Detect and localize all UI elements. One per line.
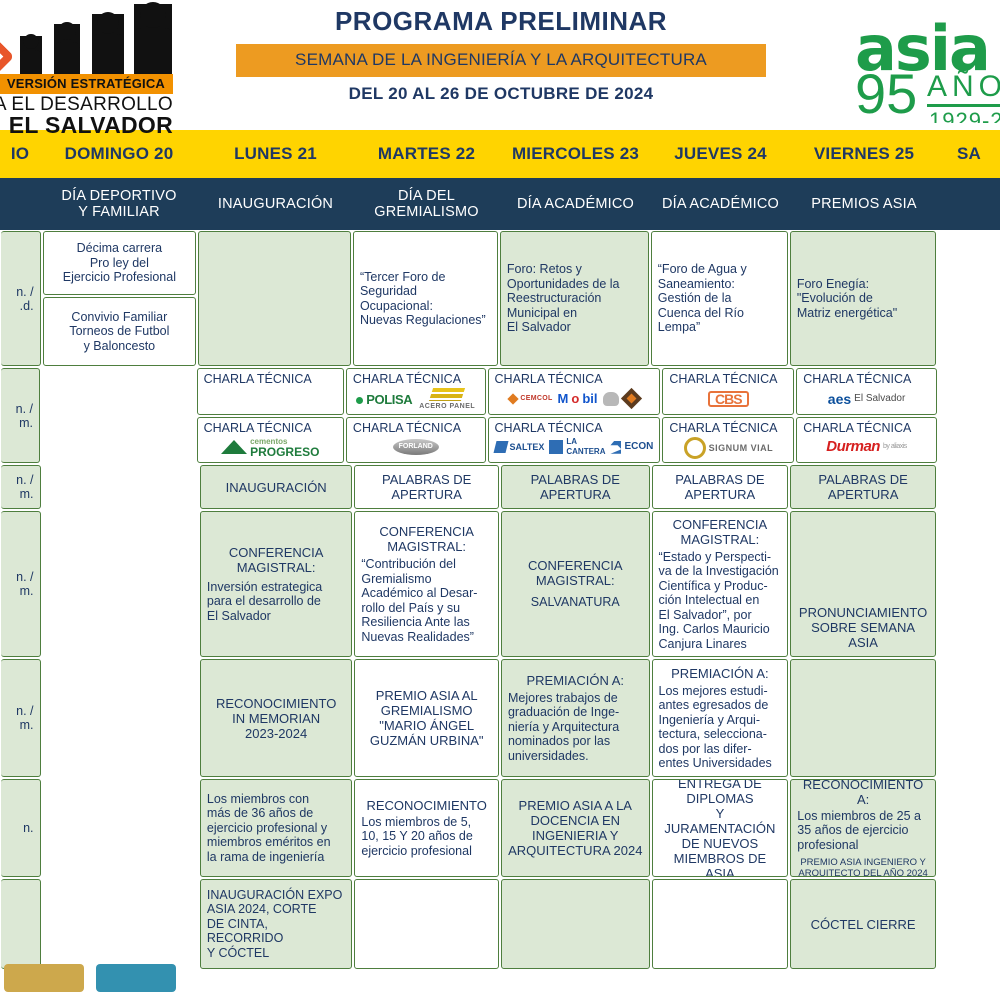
cell-domingo-apertura [43,465,198,509]
time-slot-5: n. / m. [1,659,41,777]
cell-martes-cierre[interactable] [354,879,499,969]
cell-lunes-reconocimiento[interactable]: Los miembros con más de 36 años de ejerc… [200,779,352,877]
footer-bar-blue [96,964,176,992]
time-slot-7 [1,879,41,969]
sponsor-logos: FORLAND [353,435,479,459]
day-type-miercoles: DÍA ACADÉMICO [500,196,651,212]
col-header-jueves: JUEVES 24 [651,144,790,164]
schedule-row-charlas: n. / m. CHARLA TÉCNICA CHARLA TÉCNICA ce… [0,367,1000,464]
cell-jueves-premiacion[interactable]: PREMIACIÓN A: Los mejores estudi- antes … [652,659,789,777]
logo-polisa: POLISA [356,395,412,405]
asia-logo-rule [927,104,1000,107]
logo-forland: FORLAND [393,439,439,455]
logo-econ: ECON [610,441,653,454]
side-panel-note: (Incluye t [968,615,1000,625]
cell-martes-apertura[interactable]: PALABRAS DE APERTURA [354,465,499,509]
cell-sabado-charlas [939,368,999,463]
day-type-viernes: PREMIOS ASIA [790,196,938,212]
col-header-viernes: VIERNES 25 [790,144,938,164]
cell-miercoles-premiacion[interactable]: PREMIACIÓN A: Mejores trabajos de gradua… [501,659,650,777]
cell-domingo-reconocimiento [43,779,198,877]
sponsor-logos: cementosPROGRESO [204,435,337,459]
cell-domingo-charlas [42,368,195,463]
cell-martes-conferencia[interactable]: CONFERENCIA MAGISTRAL: “Contribución del… [354,511,499,657]
cell-domingo-conferencia [43,511,198,657]
cell-viernes-pronunciamiento[interactable]: PRONUNCIAMIENTO SOBRE SEMANA ASIA [790,511,936,657]
logo-cbs: CBS [708,391,749,407]
col-jueves-charlas: CHARLA TÉCNICA CBS CHARLA TÉCNICA SIGNUM… [661,367,795,464]
person-icon-2 [54,24,80,76]
col-header-martes: MARTES 22 [353,144,500,164]
cell-jueves-cierre[interactable] [652,879,789,969]
sponsor-logos: SALTEX LACANTERA ECON [495,435,654,459]
cell-domingo-premiacion [43,659,198,777]
person-icon-3 [92,14,124,76]
charla-viernes-1[interactable]: CHARLA TÉCNICA aes El Salvador [796,368,937,415]
cell-miercoles-foro[interactable]: Foro: Retos y Oportunidades de la Reestr… [500,231,649,366]
cell-viernes-coctel-cierre[interactable]: CÓCTEL CIERRE [790,879,936,969]
charla-martes-2[interactable]: CHARLA TÉCNICA FORLAND [346,417,486,464]
program-page: VERSIÓN ESTRATÉGICA A EL DESARROLLO EL S… [0,0,1000,1000]
day-type-row: DÍA DEPORTIVO Y FAMILIAR INAUGURACIÓN DÍ… [0,178,1000,230]
page-dates: DEL 20 AL 26 DE OCTUBRE DE 2024 [236,84,766,104]
day-type-jueves: DÍA ACADÉMICO [651,196,790,212]
col-lunes-charlas: CHARLA TÉCNICA CHARLA TÉCNICA cementosPR… [196,367,345,464]
cell-jueves-entrega-diplomas[interactable]: ENTREGA DE DIPLOMAS Y JURAMENTACIÓN DE N… [652,779,789,877]
time-slot-4: n. / m. [1,511,41,657]
cell-miercoles-premio-docencia[interactable]: PREMIO ASIA A LA DOCENCIA EN INGENIERIA … [501,779,650,877]
col-header-lunes: LUNES 21 [198,144,353,164]
side-panel-line1: Vis [968,520,1000,535]
cell-martes-premio-gremialismo[interactable]: PREMIO ASIA AL GREMIALISMO "MARIO ÁNGEL … [354,659,499,777]
col-miercoles-charlas: CHARLA TÉCNICA CEMCOL Mobil CHARLA TÉCNI… [487,367,662,464]
cell-jueves-conferencia[interactable]: CONFERENCIA MAGISTRAL: “Estado y Perspec… [652,511,789,657]
cell-lunes-conferencia[interactable]: CONFERENCIA MAGISTRAL: Inversión estrate… [200,511,352,657]
logo-cemcol: CEMCOL [509,394,552,404]
gob-logo-line1: VERSIÓN ESTRATÉGICA [7,76,165,91]
gob-logo-line3: EL SALVADOR [0,112,173,139]
footer-bar-gold [4,964,84,992]
cell-martes-reconocimiento[interactable]: RECONOCIMIENTO Los miembros de 5, 10, 15… [354,779,499,877]
cell-domingo-cierre [43,879,198,969]
asia-logo: asia 95 AÑOS 1929-2024 [855,18,1000,123]
page-title: PROGRAMA PRELIMINAR [236,6,766,37]
logo-saltex: SALTEX [495,441,545,453]
cell-miercoles-cierre[interactable] [501,879,650,969]
schedule-row-foros: n. / .d. Décima carrera Pro ley del Ejer… [0,230,1000,367]
col-header-domingo: DOMINGO 20 [40,144,198,164]
col-header-sabado: SA [938,144,1000,164]
people-icon [0,4,173,76]
charla-martes-1[interactable]: CHARLA TÉCNICA POLISA ACERO PANEL [346,368,486,415]
time-slot-1: n. / .d. [1,231,41,366]
asia-logo-years: 1929-2024 [929,108,1000,123]
time-slot-6: n. [1,779,41,877]
gob-logo-bar: VERSIÓN ESTRATÉGICA [0,74,173,94]
charla-miercoles-2[interactable]: CHARLA TÉCNICA SALTEX LACANTERA ECON [488,417,661,464]
logo-cementos-progreso: cementosPROGRESO [221,437,319,457]
government-logo: VERSIÓN ESTRATÉGICA A EL DESARROLLO EL S… [0,4,173,128]
cell-miercoles-conferencia[interactable]: CONFERENCIA MAGISTRAL: SALVANATURA [501,511,650,657]
cell-jueves-apertura[interactable]: PALABRAS DE APERTURA [652,465,789,509]
cell-viernes-premiacion[interactable] [790,659,936,777]
charla-lunes-2[interactable]: CHARLA TÉCNICA cementosPROGRESO [197,417,344,464]
col-martes-charlas: CHARLA TÉCNICA POLISA ACERO PANEL CHARLA… [345,367,487,464]
event-convivio-familiar[interactable]: Convivio Familiar Torneos de Futbol y Ba… [43,297,197,366]
logo-michelin [603,392,619,406]
sponsor-logos: aes El Salvador [803,386,930,410]
time-slot-3: n. / m. [1,465,41,509]
logo-signum-vial: SIGNUM VIAL [684,437,774,459]
cell-jueves-foro[interactable]: “Foro de Agua y Saneamiento: Gestión de … [651,231,788,366]
schedule-row-cierre: INAUGURACIÓN EXPO ASIA 2024, CORTE DE CI… [0,878,1000,970]
charla-jueves-2[interactable]: CHARLA TÉCNICA SIGNUM VIAL [662,417,794,464]
asia-logo-anos: AÑOS [927,70,1000,104]
logo-aes-el-salvador: aes El Salvador [828,394,906,404]
day-type-domingo: DÍA DEPORTIVO Y FAMILIAR [40,188,198,220]
charla-jueves-1[interactable]: CHARLA TÉCNICA CBS [662,368,794,415]
cell-sabado-cierre [938,879,999,969]
side-panel-line3: L [968,550,1000,565]
cell-sabado-reconocimiento [938,779,999,877]
cell-lunes-inauguracion-expo[interactable]: INAUGURACIÓN EXPO ASIA 2024, CORTE DE CI… [200,879,352,969]
charla-viernes-2[interactable]: CHARLA TÉCNICA Durmanby aliaxis [796,417,937,464]
sponsor-logos: Durmanby aliaxis [803,435,930,459]
col-viernes-charlas: CHARLA TÉCNICA aes El Salvador CHARLA TÉ… [795,367,938,464]
schedule-row-reconocimiento: n. Los miembros con más de 36 años de ej… [0,778,1000,878]
title-block: PROGRAMA PRELIMINAR SEMANA DE LA INGENIE… [236,6,766,104]
cell-viernes-apertura[interactable]: PALABRAS DE APERTURA [790,465,936,509]
col-header-time: IO [0,144,40,164]
person-icon-1 [20,36,42,76]
side-panel-visita: Vis Plant L (Incluye t [968,520,1000,625]
cell-lunes-inauguracion[interactable]: INAUGURACIÓN [200,465,352,509]
cell-lunes-foros[interactable] [198,231,351,366]
charla-lunes-1[interactable]: CHARLA TÉCNICA [197,368,344,415]
cell-lunes-in-memorian[interactable]: RECONOCIMIENTO IN MEMORIAN 2023-2024 [200,659,352,777]
cell-domingo-foros: Décima carrera Pro ley del Ejercicio Pro… [42,230,198,367]
sponsor-logos: POLISA ACERO PANEL [353,386,479,412]
cell-miercoles-apertura[interactable]: PALABRAS DE APERTURA [501,465,650,509]
event-decima-carrera[interactable]: Décima carrera Pro ley del Ejercicio Pro… [43,231,197,295]
logo-mobil: Mobil [558,394,598,404]
cell-sabado-premiacion [938,659,999,777]
col-header-miercoles: MIERCOLES 23 [500,144,651,164]
cell-sabado-foros [938,231,999,366]
page-subtitle: SEMANA DE LA INGENIERÍA Y LA ARQUITECTUR… [236,44,766,77]
schedule-row-conferencia: n. / m. CONFERENCIA MAGISTRAL: Inversión… [0,510,1000,658]
schedule-grid: n. / .d. Décima carrera Pro ley del Ejer… [0,230,1000,970]
cell-martes-foro[interactable]: “Tercer Foro de Seguridad Ocupacional: N… [353,231,498,366]
cell-viernes-reconocimiento[interactable]: RECONOCIMIENTO A: Los miembros de 25 a 3… [790,779,936,877]
cell-viernes-foro[interactable]: Foro Enegía: "Evolución de Matriz energé… [790,231,936,366]
charla-miercoles-1[interactable]: CHARLA TÉCNICA CEMCOL Mobil [488,368,661,415]
schedule-row-premiacion: n. / m. RECONOCIMIENTO IN MEMORIAN 2023-… [0,658,1000,778]
day-type-martes: DÍA DEL GREMIALISMO [353,188,500,220]
sponsor-logos: CBS [669,386,787,410]
time-slot-2: n. / m. [1,368,40,463]
logo-diamond [620,388,641,409]
side-panel-line2: Plant [968,535,1000,550]
logo-durman: Durmanby aliaxis [826,442,906,452]
logo-la-cantera: LACANTERA [549,437,605,457]
cell-sabado-apertura [938,465,999,509]
footer-bars [0,964,176,992]
sponsor-logos: CEMCOL Mobil [495,386,654,410]
logo-acero-panel: ACERO PANEL [419,388,475,412]
asia-logo-number: 95 [855,66,917,122]
day-type-lunes: INAUGURACIÓN [198,196,353,212]
person-icon-4 [134,4,172,76]
page-header: VERSIÓN ESTRATÉGICA A EL DESARROLLO EL S… [0,0,1000,130]
sponsor-logos: SIGNUM VIAL [669,435,787,459]
schedule-row-apertura: n. / m. INAUGURACIÓN PALABRAS DE APERTUR… [0,464,1000,510]
